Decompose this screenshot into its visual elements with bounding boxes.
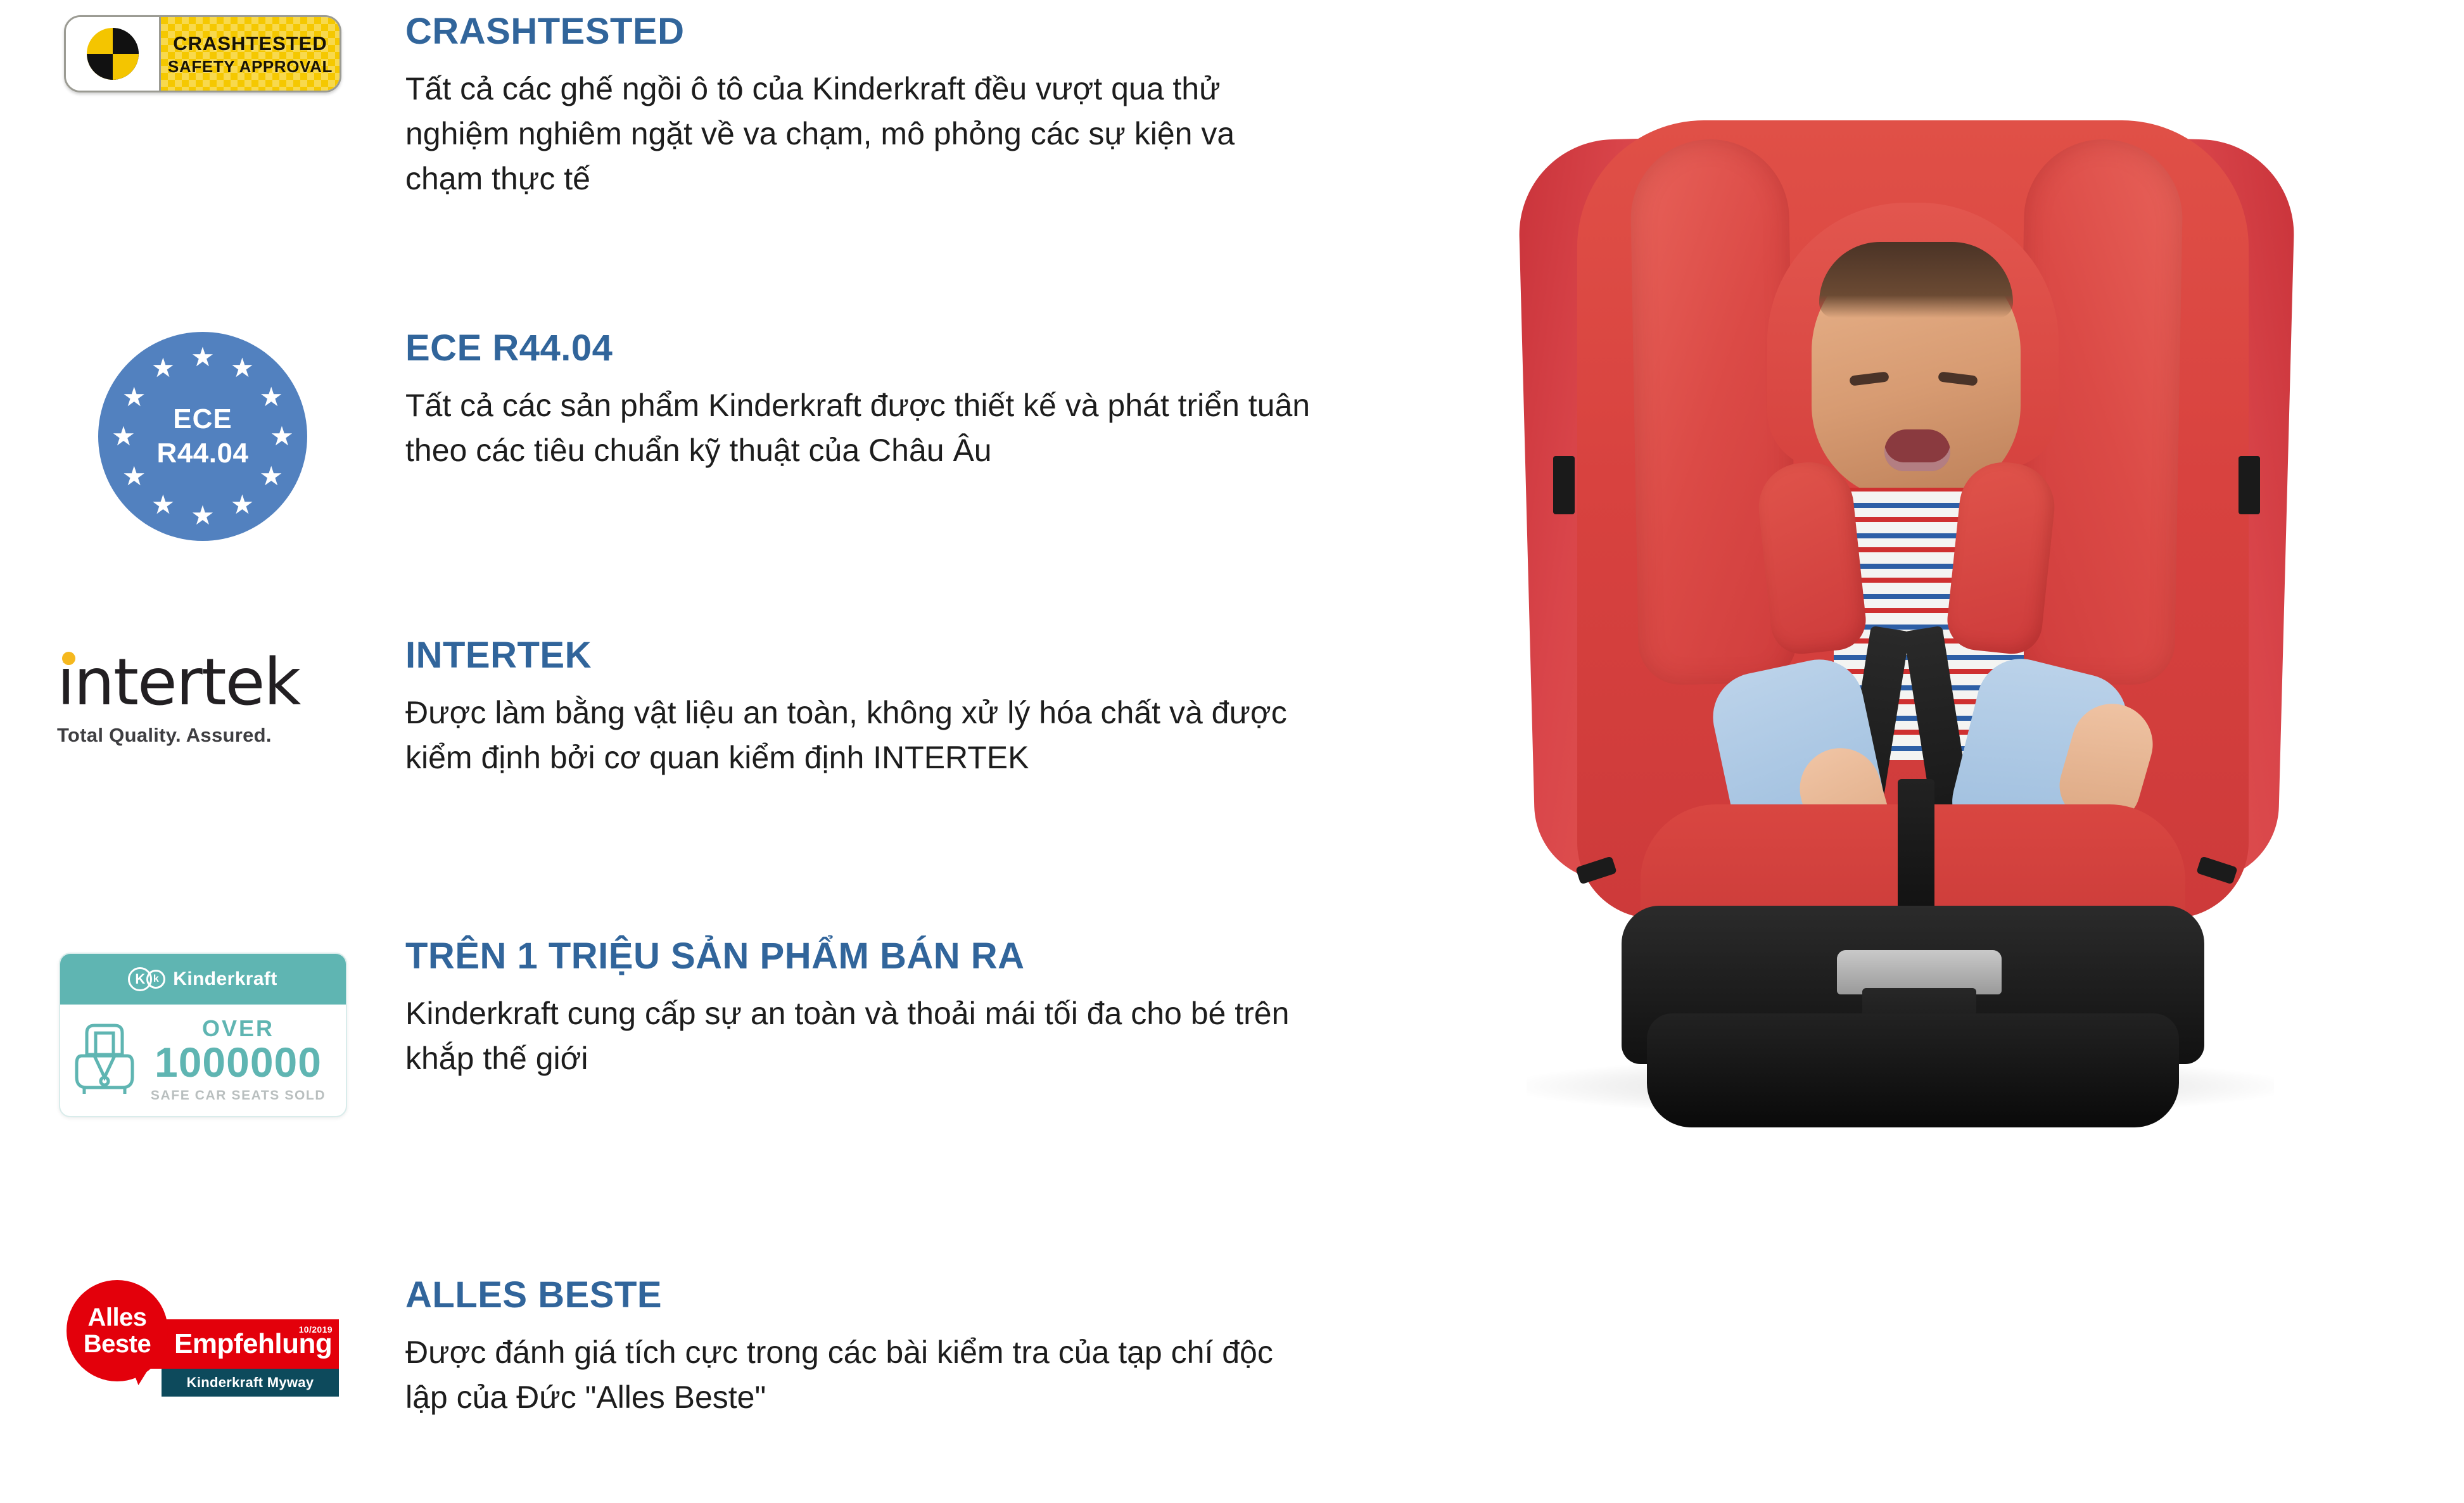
kinderkraft-badge-header: K k Kinderkraft bbox=[60, 954, 346, 1005]
units-sold-over-label: OVER bbox=[140, 1017, 337, 1040]
intertek-wordmark: intertek bbox=[57, 650, 348, 715]
crash-badge-line1: CRASHTESTED bbox=[173, 34, 327, 53]
intertek-badge-cell: intertek Total Quality. Assured. bbox=[0, 637, 405, 747]
ece-star-icon: ★ bbox=[270, 423, 294, 450]
intertek-dot-icon bbox=[62, 652, 75, 665]
alles-beste-circle-line1: Alles bbox=[87, 1305, 146, 1330]
feature-desc-alles-beste: Được đánh giá tích cực trong các bài kiể… bbox=[405, 1330, 1318, 1420]
kinderkraft-brand-name: Kinderkraft bbox=[173, 968, 277, 990]
feature-title-alles-beste: ALLES BESTE bbox=[405, 1276, 1406, 1315]
feature-intertek: intertek Total Quality. Assured. INTERTE… bbox=[0, 637, 1406, 780]
ece-badge-line2: R44.04 bbox=[157, 438, 249, 469]
car-seat-illustration bbox=[1368, 19, 2445, 1172]
alles-beste-bar: Empfehlung 10/2019 bbox=[140, 1319, 339, 1369]
units-sold-text: TRÊN 1 TRIỆU SẢN PHẨM BÁN RA Kinderkraft… bbox=[405, 937, 1406, 1081]
ece-star-icon: ★ bbox=[151, 355, 175, 381]
alles-beste-date: 10/2019 bbox=[299, 1324, 333, 1335]
feature-units-sold: K k Kinderkraft bbox=[0, 937, 1406, 1117]
ece-badge-icon: ECE R44.04 ★★★★★★★★★★★★ bbox=[98, 332, 307, 541]
ece-star-icon: ★ bbox=[191, 344, 215, 371]
crash-checkered-panel: CRASHTESTED SAFETY APPROVAL bbox=[161, 17, 340, 91]
ece-star-icon: ★ bbox=[111, 423, 136, 450]
ece-star-icon: ★ bbox=[122, 463, 146, 490]
feature-list: CRASHTESTED SAFETY APPROVAL CRASHTESTED … bbox=[0, 0, 1406, 1503]
baby-mouth bbox=[1884, 429, 1950, 471]
seat-label-left bbox=[1553, 456, 1575, 514]
ece-star-icon: ★ bbox=[231, 355, 255, 381]
alles-beste-circle-line2: Beste bbox=[84, 1331, 151, 1357]
kinderkraft-sold-badge-icon: K k Kinderkraft bbox=[59, 953, 347, 1117]
seat-label-right bbox=[2239, 456, 2260, 514]
units-sold-count: 1000000 bbox=[140, 1040, 337, 1085]
car-seat-icon bbox=[69, 1023, 140, 1098]
intertek-logo-icon: intertek Total Quality. Assured. bbox=[57, 647, 348, 747]
feature-ece: ECE R44.04 ★★★★★★★★★★★★ ECE R44.04 Tất c… bbox=[0, 329, 1406, 541]
kinderkraft-logo-icon: K k bbox=[128, 967, 165, 991]
alles-beste-badge-cell: Empfehlung 10/2019 Alles Beste Kinderkra… bbox=[0, 1276, 405, 1407]
ece-star-icon: ★ bbox=[259, 384, 283, 410]
crashtested-badge-cell: CRASHTESTED SAFETY APPROVAL bbox=[0, 13, 405, 92]
product-image bbox=[1368, 19, 2445, 1172]
feature-title-intertek: INTERTEK bbox=[405, 637, 1406, 675]
alles-beste-text: ALLES BESTE Được đánh giá tích cực trong… bbox=[405, 1276, 1406, 1420]
feature-desc-crashtested: Tất cả các ghế ngồi ô tô của Kinderkraft… bbox=[405, 67, 1318, 201]
ece-star-icon: ★ bbox=[122, 384, 146, 410]
feature-desc-ece: Tất cả các sản phẩm Kinderkraft được thi… bbox=[405, 383, 1318, 473]
ece-badge-line1: ECE bbox=[157, 403, 249, 435]
kinderkraft-logo-letter-small: k bbox=[146, 970, 165, 989]
crashtested-text: CRASHTESTED Tất cả các ghế ngồi ô tô của… bbox=[405, 13, 1406, 201]
units-sold-badge-cell: K k Kinderkraft bbox=[0, 937, 405, 1117]
ece-star-icon: ★ bbox=[151, 491, 175, 518]
feature-title-crashtested: CRASHTESTED bbox=[405, 13, 1406, 51]
feature-desc-units-sold: Kinderkraft cung cấp sự an toàn và thoải… bbox=[405, 991, 1318, 1081]
intertek-tagline: Total Quality. Assured. bbox=[57, 724, 348, 747]
units-sold-subtitle: SAFE CAR SEATS SOLD bbox=[140, 1088, 337, 1103]
ece-star-icon: ★ bbox=[259, 463, 283, 490]
alles-beste-footer: Kinderkraft Myway bbox=[162, 1369, 339, 1397]
baby-hair bbox=[1819, 242, 2013, 318]
ece-star-icon: ★ bbox=[191, 502, 215, 529]
crashtested-badge-icon: CRASHTESTED SAFETY APPROVAL bbox=[64, 15, 341, 92]
kinderkraft-badge-body: OVER 1000000 SAFE CAR SEATS SOLD bbox=[60, 1005, 346, 1116]
units-sold-numbers: OVER 1000000 SAFE CAR SEATS SOLD bbox=[140, 1017, 337, 1103]
feature-alles-beste: Empfehlung 10/2019 Alles Beste Kinderkra… bbox=[0, 1276, 1406, 1420]
feature-crashtested: CRASHTESTED SAFETY APPROVAL CRASHTESTED … bbox=[0, 13, 1406, 201]
ece-badge-cell: ECE R44.04 ★★★★★★★★★★★★ bbox=[0, 329, 405, 541]
ece-text: ECE R44.04 Tất cả các sản phẩm Kinderkra… bbox=[405, 329, 1406, 473]
crash-badge-line2: SAFETY APPROVAL bbox=[168, 58, 333, 75]
feature-title-ece: ECE R44.04 bbox=[405, 329, 1406, 368]
feature-desc-intertek: Được làm bằng vật liệu an toàn, không xử… bbox=[405, 690, 1318, 780]
crash-quadrant-icon bbox=[66, 17, 161, 91]
intertek-text: INTERTEK Được làm bằng vật liệu an toàn,… bbox=[405, 637, 1406, 780]
alles-beste-circle: Alles Beste bbox=[67, 1280, 168, 1381]
feature-title-units-sold: TRÊN 1 TRIỆU SẢN PHẨM BÁN RA bbox=[405, 937, 1406, 976]
ece-star-icon: ★ bbox=[231, 491, 255, 518]
safety-features-page: CRASHTESTED SAFETY APPROVAL CRASHTESTED … bbox=[0, 0, 2464, 1503]
alles-beste-footer-text: Kinderkraft Myway bbox=[187, 1374, 314, 1391]
seat-base-lower bbox=[1647, 1013, 2179, 1127]
alles-beste-badge-icon: Empfehlung 10/2019 Alles Beste Kinderkra… bbox=[67, 1280, 339, 1407]
